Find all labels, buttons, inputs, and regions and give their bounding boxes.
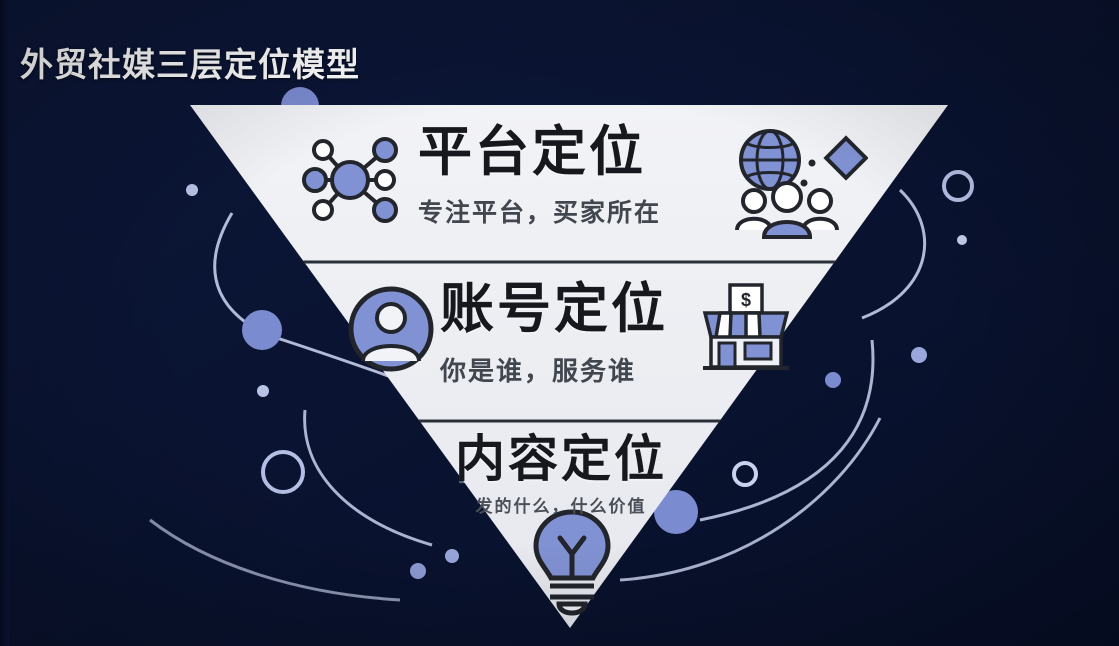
user-avatar-icon <box>345 283 437 375</box>
layer-platform-heading: 平台定位 <box>418 125 661 179</box>
lightbulb-icon <box>526 508 618 620</box>
svg-text:$: $ <box>741 290 751 310</box>
layer-content-heading: 内容定位 <box>455 434 667 484</box>
network-nodes-icon <box>290 128 410 233</box>
layer-account-heading: 账号定位 <box>440 282 668 336</box>
infographic-slide: $ <box>0 0 1119 646</box>
page-title: 外贸社媒三层定位模型 <box>20 38 360 86</box>
storefront-icon: $ <box>697 281 795 373</box>
layer-account-subtitle: 你是谁，服务谁 <box>440 358 668 384</box>
layer-content: 内容定位 发的什么，什么价值 <box>455 434 667 515</box>
layer-platform: 平台定位 专注平台，买家所在 <box>418 125 661 226</box>
globe-audience-icon <box>728 125 868 243</box>
layer-account: 账号定位 你是谁，服务谁 <box>440 282 668 384</box>
left-edge-strip <box>0 0 9 646</box>
layer-platform-subtitle: 专注平台，买家所在 <box>418 201 661 226</box>
layer-content-subtitle: 发的什么，什么价值 <box>455 498 667 515</box>
